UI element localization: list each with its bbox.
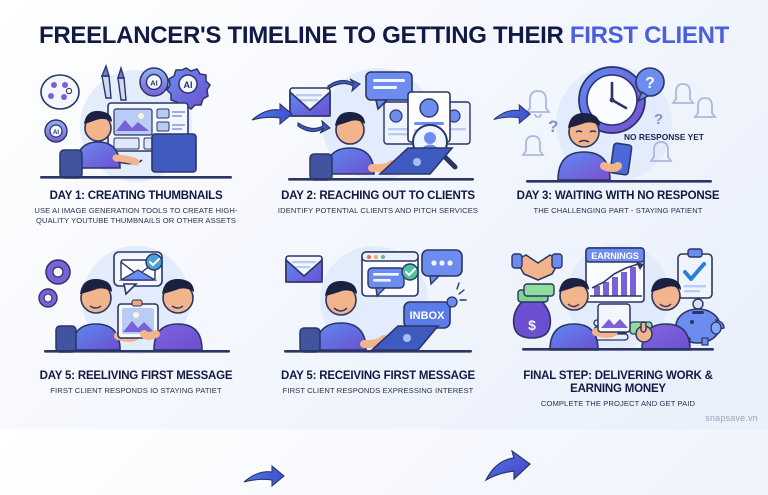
- watermark: snapsave.vn: [705, 413, 758, 423]
- arrow-2-to-3: [492, 102, 532, 133]
- panel-day-1-title: DAY 1: CREATING THUMBNAILS: [20, 190, 252, 203]
- svg-text:$: $: [528, 317, 536, 333]
- panel-day-3: ? ? ? NO RESPONSE YET: [502, 58, 734, 216]
- panel-day-3-caption: DAY 3: WAITING WITH NO RESPONSE THE CHAL…: [502, 190, 734, 216]
- handshake-icon: [512, 254, 562, 280]
- panel-grid: AI AI AI: [14, 58, 754, 413]
- panel-day-2: DAY 2: REACHING OUT TO CLIENTS IDENTIFY …: [262, 58, 494, 216]
- svg-text:AI: AI: [150, 79, 158, 88]
- arrow-1-to-2: [250, 102, 294, 133]
- envelope-icon: [286, 256, 322, 282]
- panel-day-5-a-illustration: [20, 238, 252, 368]
- arrow-5-to-6: [484, 450, 540, 495]
- panel-day-5-b-title: DAY 5: RECEIVING FIRST MESSAGE: [262, 370, 494, 383]
- inbox-label: INBOX: [410, 310, 446, 322]
- question-mark-icon-3: ?: [654, 111, 663, 128]
- infographic-root: FREELANCER'S TIMELINE TO GETTING THEIR F…: [0, 0, 768, 429]
- browser-window-icon: [362, 252, 418, 296]
- panel-day-2-illustration: [262, 58, 494, 188]
- panel-day-5-b: INBOX: [262, 238, 494, 396]
- panel-day-2-title: DAY 2: REACHING OUT TO CLIENTS: [262, 190, 494, 203]
- panel-day-5-b-illustration: INBOX: [262, 238, 494, 368]
- ai-gear-icon-3: AI: [45, 120, 67, 142]
- no-response-label: NO RESPONSE YET: [624, 132, 705, 142]
- panel-row-2: DAY 5: REELIVING FIRST MESSAGE FIRST CLI…: [14, 238, 754, 406]
- panel-day-3-subtitle: THE CHALLENGING PART - STAYING PATIENT: [502, 206, 734, 216]
- earnings-label: EARNINGS: [591, 251, 639, 261]
- panel-day-2-caption: DAY 2: REACHING OUT TO CLIENTS IDENTIFY …: [262, 190, 494, 216]
- panel-day-3-illustration: ? ? ? NO RESPONSE YET: [502, 58, 734, 188]
- earnings-chart-icon: EARNINGS: [586, 248, 644, 302]
- panel-day-5-a-subtitle: FIRST CLIENT RESPONDS IO STAYING PATIET: [20, 386, 252, 396]
- arrow-4-to-5: [242, 464, 286, 495]
- clipboard-check-icon: [678, 249, 712, 298]
- chat-dots-icon: [422, 250, 462, 284]
- panel-final-step-subtitle: COMPLETE THE PROJECT AND GET PAID: [502, 399, 734, 409]
- panel-day-3-title: DAY 3: WAITING WITH NO RESPONSE: [502, 190, 734, 203]
- question-mark-icon-2: ?: [548, 117, 558, 136]
- panel-final-step-title: FINAL STEP: DELIVERING WORK & EARNING MO…: [502, 370, 734, 396]
- panel-day-5-a: DAY 5: REELIVING FIRST MESSAGE FIRST CLI…: [20, 238, 252, 396]
- panel-final-step-caption: FINAL STEP: DELIVERING WORK & EARNING MO…: [502, 370, 734, 409]
- title-highlight: FIRST CLIENT: [570, 22, 729, 49]
- title-main: FREELANCER'S TIMELINE TO GETTING THEIR: [39, 22, 570, 49]
- panel-day-2-subtitle: IDENTIFY POTENTIAL CLIENTS AND PITCH SER…: [262, 206, 494, 216]
- panel-day-1: AI AI AI: [20, 58, 252, 225]
- panel-final-step-illustration: EARNINGS: [502, 238, 734, 368]
- gear-icon: [39, 260, 70, 307]
- page-title: FREELANCER'S TIMELINE TO GETTING THEIR F…: [0, 22, 768, 50]
- panel-day-1-illustration: AI AI AI: [20, 58, 252, 188]
- panel-day-1-caption: DAY 1: CREATING THUMBNAILS USE AI IMAGE …: [20, 190, 252, 225]
- envelope-icon: [290, 88, 330, 116]
- panel-day-5-b-caption: DAY 5: RECEIVING FIRST MESSAGE FIRST CLI…: [262, 370, 494, 396]
- svg-text:?: ?: [645, 75, 655, 92]
- panel-day-5-a-caption: DAY 5: REELIVING FIRST MESSAGE FIRST CLI…: [20, 370, 252, 396]
- paint-palette-icon: [41, 75, 79, 109]
- panel-final-step: EARNINGS: [502, 238, 734, 409]
- panel-row-1: AI AI AI: [14, 58, 754, 226]
- svg-text:AI: AI: [184, 80, 193, 90]
- panel-day-5-a-title: DAY 5: REELIVING FIRST MESSAGE: [20, 370, 252, 383]
- ai-gear-icon-2: AI: [140, 68, 168, 96]
- panel-day-1-subtitle: USE AI IMAGE GENERATION TOOLS TO CREATE …: [20, 206, 252, 225]
- svg-text:AI: AI: [53, 130, 59, 136]
- money-bag-icon: $: [514, 284, 554, 338]
- panel-day-5-b-subtitle: FIRST CLIENT RESPONDS EXPRESSING INTERES…: [262, 386, 494, 396]
